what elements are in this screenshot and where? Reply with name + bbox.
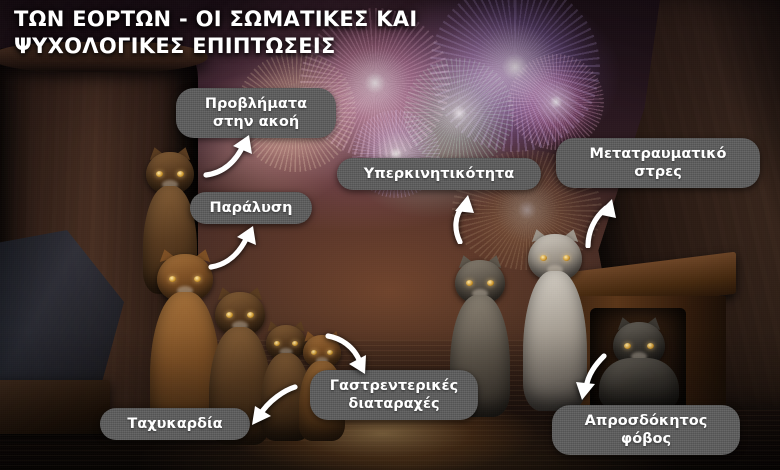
- cat-in-house: [596, 318, 682, 410]
- callout-gastro-line-2: διαταραχές: [324, 395, 464, 413]
- cat-eye-right: [647, 343, 654, 349]
- page-title-line-1: ΤΩΝ ΕΟΡΤΩΝ - ΟΙ ΣΩΜΑΤΙΚΕΣ ΚΑΙ: [14, 7, 418, 31]
- cat-white-tall: [518, 230, 592, 412]
- cat-eye-left: [169, 276, 176, 282]
- cat-body: [599, 358, 679, 410]
- callout-fear-line-1: Απροσδόκητος: [566, 412, 726, 430]
- callout-fear-line-2: φόβος: [566, 430, 726, 448]
- callout-gastrointestinal-disorders[interactable]: Γαστρεντερικές διαταραχές: [310, 370, 478, 420]
- firework-burst-pink-small: [508, 54, 604, 150]
- cat-eye-left: [156, 171, 163, 177]
- cat-body: [523, 271, 587, 411]
- callout-hyperactivity-line-1: Υπερκινητικότητα: [351, 165, 527, 183]
- cat-eye-left: [274, 341, 280, 346]
- callout-hearing-line-1: Προβλήματα: [190, 95, 322, 113]
- cat-eye-right: [327, 350, 333, 355]
- cat-eye-right: [247, 312, 254, 318]
- cat-eye-right: [177, 171, 184, 177]
- callout-hearing-line-2: στην ακοή: [190, 113, 322, 131]
- cat-eye-left: [226, 312, 233, 318]
- cat-eye-left: [624, 343, 631, 349]
- page-title: ΤΩΝ ΕΟΡΤΩΝ - ΟΙ ΣΩΜΑΤΙΚΕΣ ΚΑΙ ΨΥΧΟΛΟΓΙΚΕ…: [14, 6, 574, 60]
- cat-eye-left: [466, 280, 473, 286]
- callout-paralysis-line-1: Παράλυση: [204, 199, 298, 217]
- callout-unexpected-fear[interactable]: Απροσδόκητος φόβος: [552, 405, 740, 455]
- callout-gastro-line-1: Γαστρεντερικές: [324, 377, 464, 395]
- stone-block: [0, 380, 110, 434]
- cat-eye-right: [194, 276, 201, 282]
- callout-hyperactivity[interactable]: Υπερκινητικότητα: [337, 158, 541, 190]
- infographic-canvas: ΤΩΝ ΕΟΡΤΩΝ - ΟΙ ΣΩΜΑΤΙΚΕΣ ΚΑΙ ΨΥΧΟΛΟΓΙΚΕ…: [0, 0, 780, 470]
- callout-paralysis[interactable]: Παράλυση: [190, 192, 312, 224]
- cat-eye-left: [540, 255, 547, 261]
- callout-tachycardia[interactable]: Ταχυκαρδία: [100, 408, 250, 440]
- callout-ptsd-line-1: Μετατραυματικό: [570, 145, 746, 163]
- page-title-line-2: ΨΥΧΟΛΟΓΙΚΕΣ ΕΠΙΠΤΩΣΕΙΣ: [14, 33, 574, 60]
- callout-tachycardia-line-1: Ταχυκαρδία: [114, 415, 236, 433]
- callout-ptsd-line-2: στρες: [570, 163, 746, 181]
- cat-eye-right: [563, 255, 570, 261]
- cat-eye-right: [487, 280, 494, 286]
- callout-hearing-problems[interactable]: Προβλήματα στην ακοή: [176, 88, 336, 138]
- cat-eye-left: [311, 350, 317, 355]
- callout-post-traumatic-stress[interactable]: Μετατραυματικό στρες: [556, 138, 760, 188]
